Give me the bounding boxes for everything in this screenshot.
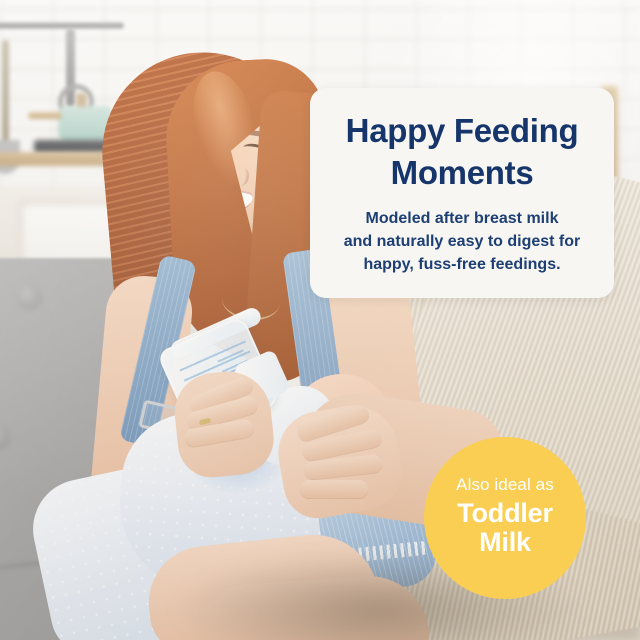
badge-line-2: Milk bbox=[479, 528, 531, 557]
subcopy-line-2: and naturally easy to digest for bbox=[328, 230, 596, 253]
promo-text-card: Happy Feeding Moments Modeled after brea… bbox=[310, 88, 614, 298]
page-title: Happy Feeding Moments bbox=[328, 110, 596, 193]
badge-line-1: Toddler bbox=[457, 499, 553, 528]
toddler-milk-badge: Also ideal as Toddler Milk bbox=[424, 437, 586, 599]
badge-kicker: Also ideal as bbox=[456, 475, 554, 495]
headline-line-1: Happy Feeding bbox=[346, 112, 579, 149]
subcopy-line-1: Modeled after breast milk bbox=[328, 207, 596, 230]
headline-line-2: Moments bbox=[391, 154, 534, 191]
promo-banner: Happy Feeding Moments Modeled after brea… bbox=[0, 0, 640, 640]
promo-subcopy: Modeled after breast milk and naturally … bbox=[328, 207, 596, 276]
subcopy-line-3: happy, fuss-free feedings. bbox=[328, 253, 596, 276]
finger bbox=[300, 480, 368, 498]
